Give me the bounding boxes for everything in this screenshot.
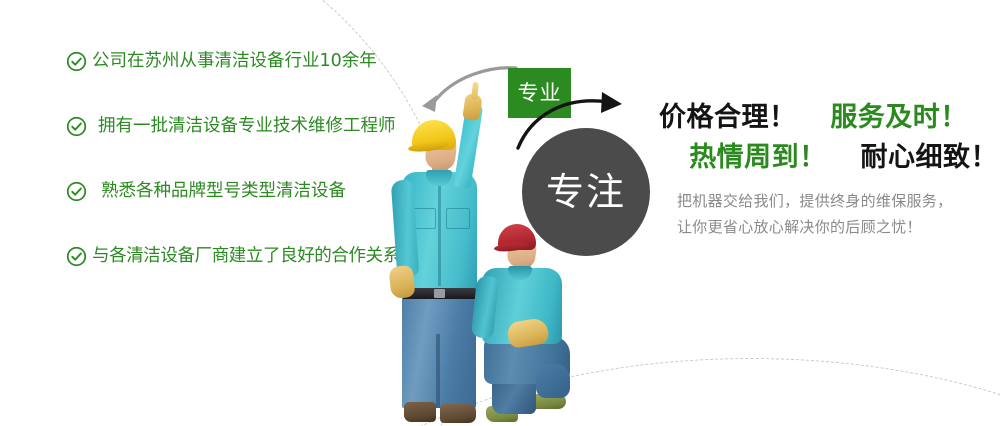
tag-professional: 专业 (508, 68, 571, 118)
tag-professional-label: 专业 (518, 83, 562, 104)
worker-shirt-pocket-right (446, 208, 470, 229)
headline-line-1-part-1: 价格合理！ (659, 102, 797, 133)
worker-pants-seam (436, 334, 440, 408)
worker2-knee (536, 364, 570, 398)
badge-focus: 专注 (522, 128, 650, 256)
badge-focus-label: 专注 (546, 173, 626, 211)
headline-line-2: 热情周到！ 耐心细致！ (655, 138, 1000, 178)
feature-item-1-label: 公司在苏州从事清洁设备行业10余年 (92, 51, 377, 72)
feature-item-4-label: 与各清洁设备厂商建立了良好的合作关系 (92, 246, 400, 267)
check-circle-icon (66, 181, 87, 202)
check-circle-icon (66, 246, 87, 267)
feature-item-2-label: 拥有一批清洁设备专业技术维修工程师 (92, 116, 396, 137)
promo-subcopy: 把机器交给我们，提供终身的维保服务， 让你更省心放心解决你的后顾之忧！ (655, 188, 1000, 240)
check-circle-icon (66, 116, 87, 137)
decorative-dashed-arc-bottom (260, 358, 1000, 426)
promo-subcopy-line-2: 让你更省心放心解决你的后顾之忧！ (655, 214, 1000, 240)
feature-item-4: 与各清洁设备厂商建立了良好的合作关系 (66, 243, 426, 269)
feature-item-1: 公司在苏州从事清洁设备行业10余年 (66, 48, 426, 74)
promo-copy: 价格合理！ 服务及时！ 热情周到！ 耐心细致！ 把机器交给我们，提供终身的维保服… (655, 98, 1000, 240)
headline-line-2-part-2: 耐心细致！ (861, 142, 999, 173)
feature-list: 公司在苏州从事清洁设备行业10余年 拥有一批清洁设备专业技术维修工程师 熟悉各种… (66, 48, 426, 269)
headline-line-1-part-2: 服务及时！ (830, 102, 968, 133)
headline-line-2-part-1: 热情周到！ (689, 142, 827, 173)
headline-line-1: 价格合理！ 服务及时！ (655, 98, 1000, 138)
promo-banner: 公司在苏州从事清洁设备行业10余年 拥有一批清洁设备专业技术维修工程师 熟悉各种… (0, 0, 1000, 426)
worker-boot-left (404, 402, 436, 422)
worker-shirt-placket (438, 182, 441, 286)
worker-belt-buckle (434, 289, 445, 298)
check-circle-icon (66, 51, 87, 72)
feature-item-2: 拥有一批清洁设备专业技术维修工程师 (66, 113, 426, 139)
feature-item-3-label: 熟悉各种品牌型号类型清洁设备 (92, 181, 346, 202)
feature-item-3: 熟悉各种品牌型号类型清洁设备 (66, 178, 426, 204)
worker-glove-left (388, 265, 415, 299)
promo-subcopy-line-1: 把机器交给我们，提供终身的维保服务， (655, 188, 1000, 214)
